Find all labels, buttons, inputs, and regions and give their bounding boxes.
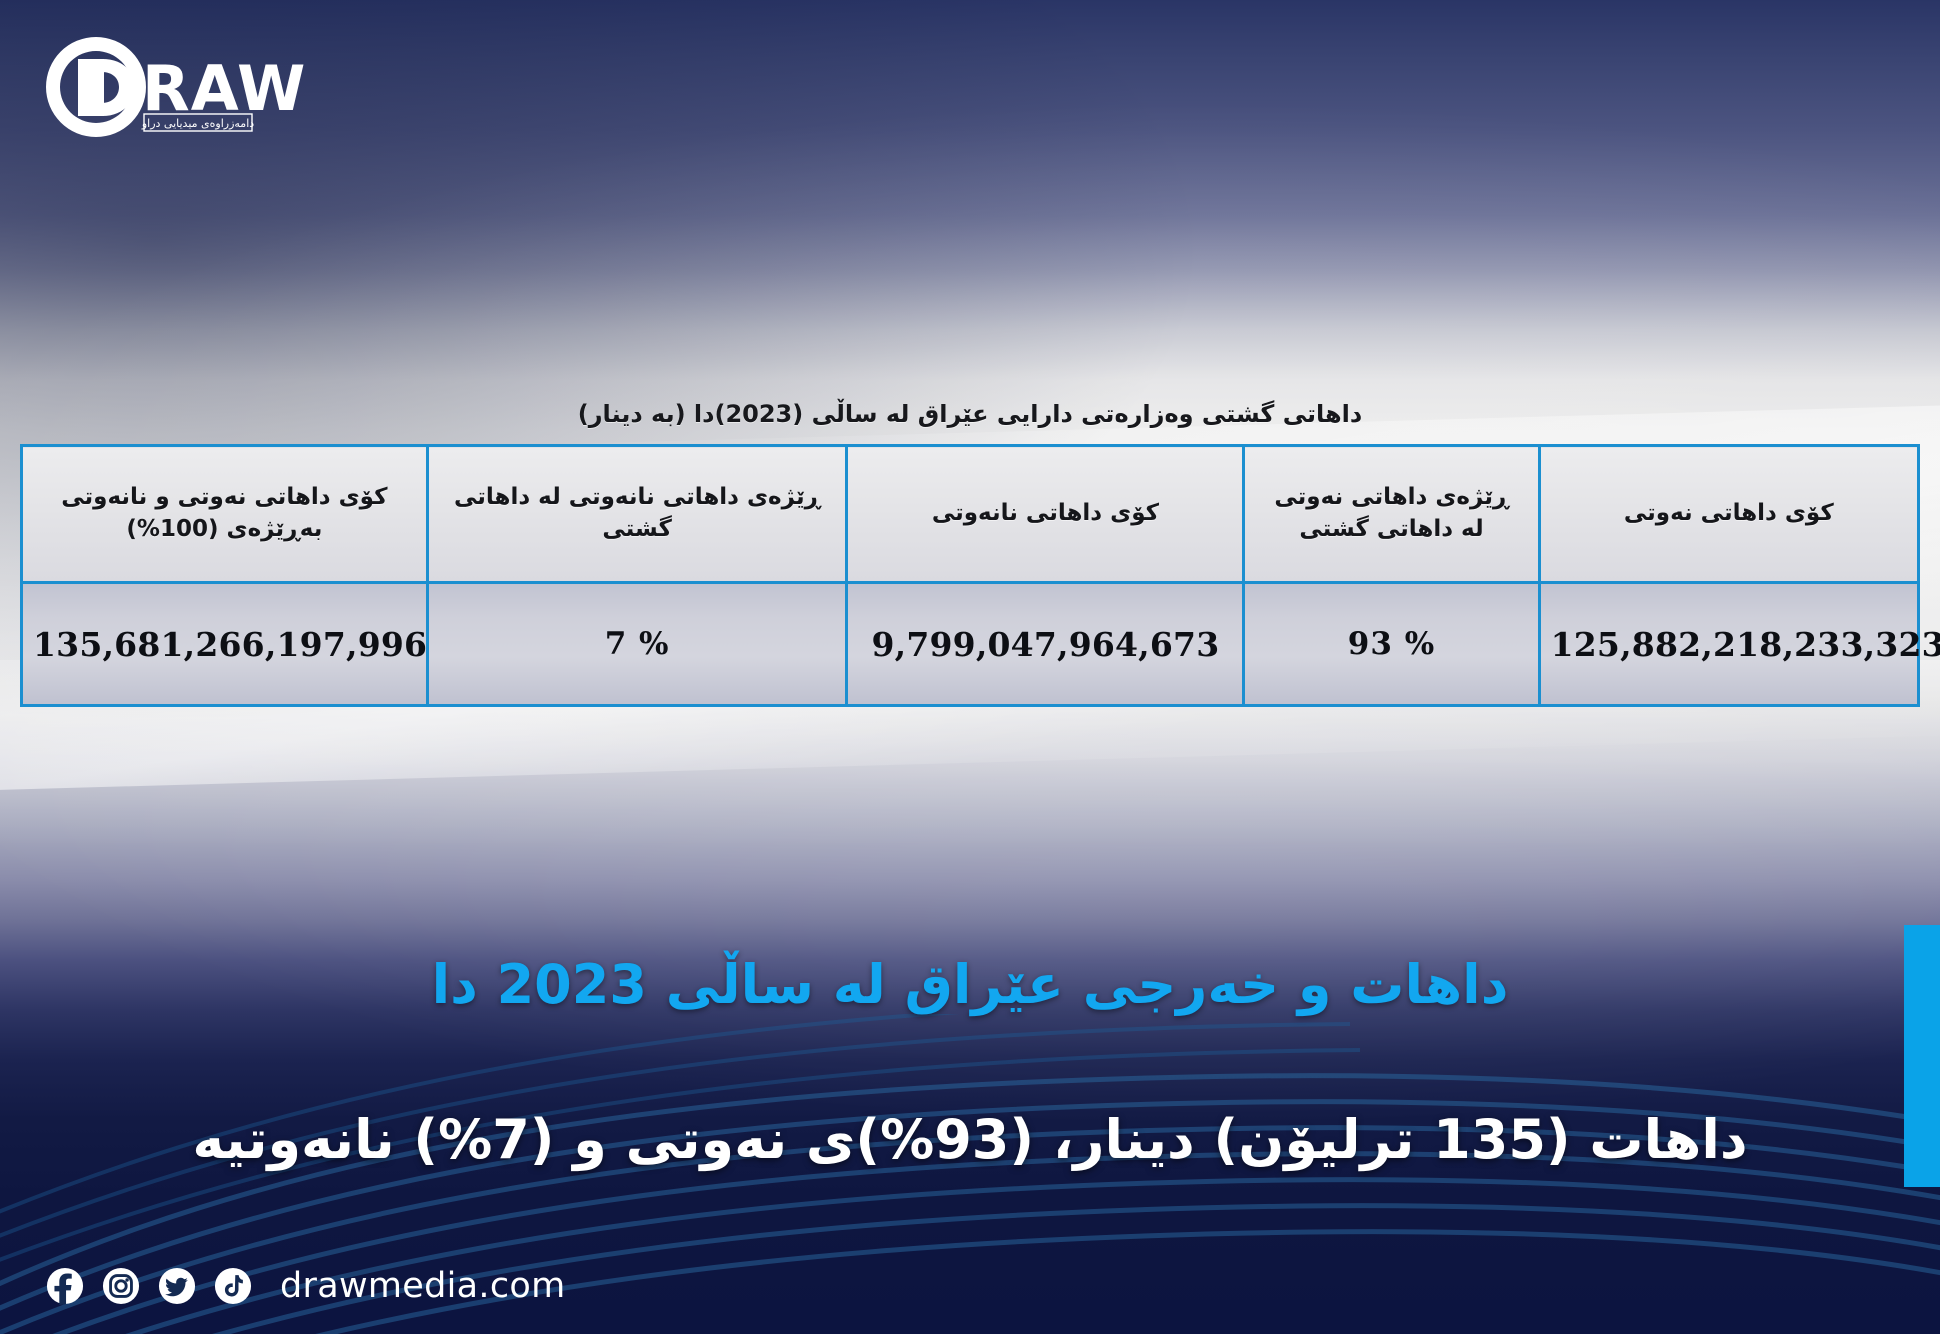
column-header-nonoil-share-pct: ڕێژەی داهاتی نانەوتی لە داهاتی گشتی — [427, 446, 847, 583]
sub-headline: داهات (135 ترلیۆن) دینار، (93%)ی نەوتی و… — [0, 1110, 1940, 1169]
right-accent-bar — [1904, 925, 1940, 1187]
table-header-row: کۆی داهاتی نەوتی ڕێژەی داهاتی نەوتی لە د… — [22, 446, 1919, 583]
logo-mark-icon: RAW دامەزراوەی میدیایی دراو — [44, 34, 354, 140]
instagram-icon[interactable] — [102, 1267, 140, 1305]
footer-bar: drawmedia.com — [46, 1266, 565, 1306]
main-headline: داهات و خەرجی عێراق لە ساڵی 2023 دا — [0, 955, 1940, 1014]
infographic-poster: RAW دامەزراوەی میدیایی دراو داهاتی گشتی … — [0, 0, 1940, 1334]
tiktok-icon[interactable] — [214, 1267, 252, 1305]
data-table-section: داهاتی گشتی وەزارەتی دارایی عێراق لە ساڵ… — [20, 400, 1920, 707]
finance-table: کۆی داهاتی نەوتی ڕێژەی داهاتی نەوتی لە د… — [20, 444, 1920, 707]
logo-tagline: دامەزراوەی میدیایی دراو — [141, 117, 254, 130]
column-header-total-nonoil-revenue: کۆی داهاتی نانەوتی — [847, 446, 1244, 583]
table-row: 125,882,218,233,323 93 % 9,799,047,964,6… — [22, 583, 1919, 706]
cell-total-oil-revenue: 125,882,218,233,323 — [1539, 583, 1918, 706]
column-header-oil-share-pct: ڕێژەی داهاتی نەوتی لە داهاتی گشتی — [1244, 446, 1539, 583]
website-url[interactable]: drawmedia.com — [280, 1266, 565, 1306]
cell-total-nonoil-revenue: 9,799,047,964,673 — [847, 583, 1244, 706]
cell-oil-share-pct: 93 % — [1244, 583, 1539, 706]
facebook-icon[interactable] — [46, 1267, 84, 1305]
column-header-total-oil-revenue: کۆی داهاتی نەوتی — [1539, 446, 1918, 583]
draw-media-logo: RAW دامەزراوەی میدیایی دراو — [44, 34, 354, 140]
twitter-icon[interactable] — [158, 1267, 196, 1305]
column-header-grand-total: کۆی داهاتی نەوتی و نانەوتی بەڕێژەی (100%… — [22, 446, 428, 583]
cell-nonoil-share-pct: 7 % — [427, 583, 847, 706]
cell-grand-total: 135,681,266,197,996 — [22, 583, 428, 706]
table-caption: داهاتی گشتی وەزارەتی دارایی عێراق لە ساڵ… — [20, 400, 1920, 428]
